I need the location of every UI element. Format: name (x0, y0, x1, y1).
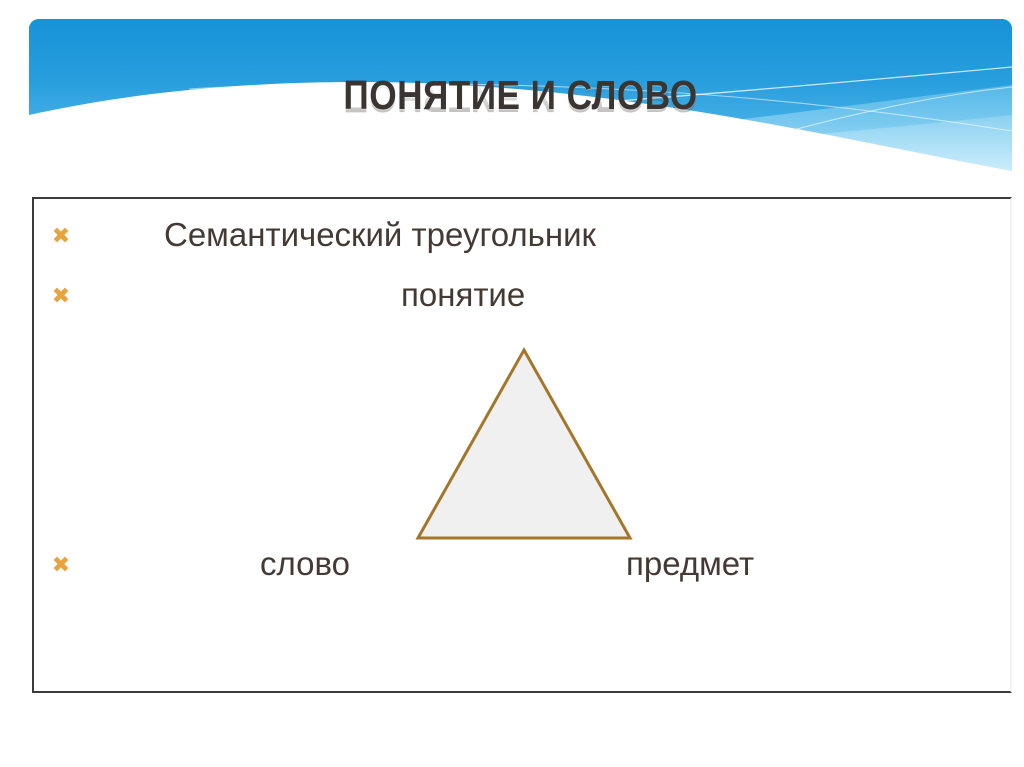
triangle-vertex-label-apex: понятие (401, 278, 525, 313)
content-placeholder: ✖ Семантический треугольник ✖ понятие ✖ … (32, 197, 1012, 693)
bullet-label-semantic-triangle: Семантический треугольник (164, 218, 596, 253)
heavy-multiplication-x-icon: ✖ (48, 555, 74, 577)
heavy-multiplication-x-icon: ✖ (48, 286, 74, 308)
semantic-triangle-diagram (412, 344, 636, 544)
page-title: ПОНЯТИЕ И СЛОВО (98, 75, 943, 116)
list-item: ✖ Семантический треугольник (34, 218, 1010, 264)
heavy-multiplication-x-icon: ✖ (48, 226, 74, 248)
list-item: ✖ понятие (34, 278, 1010, 324)
triangle-vertex-label-bottom-right: предмет (626, 547, 754, 582)
triangle-shape-icon (412, 344, 636, 544)
triangle-vertex-label-bottom-left: слово (260, 547, 350, 582)
slide-canvas: ПОНЯТИЕ И СЛОВО ПОНЯТИЕ И СЛОВО ✖ Семант… (0, 0, 1024, 767)
title-banner: ПОНЯТИЕ И СЛОВО ПОНЯТИЕ И СЛОВО (29, 19, 1012, 171)
list-item: ✖ слово предмет (34, 547, 1010, 593)
